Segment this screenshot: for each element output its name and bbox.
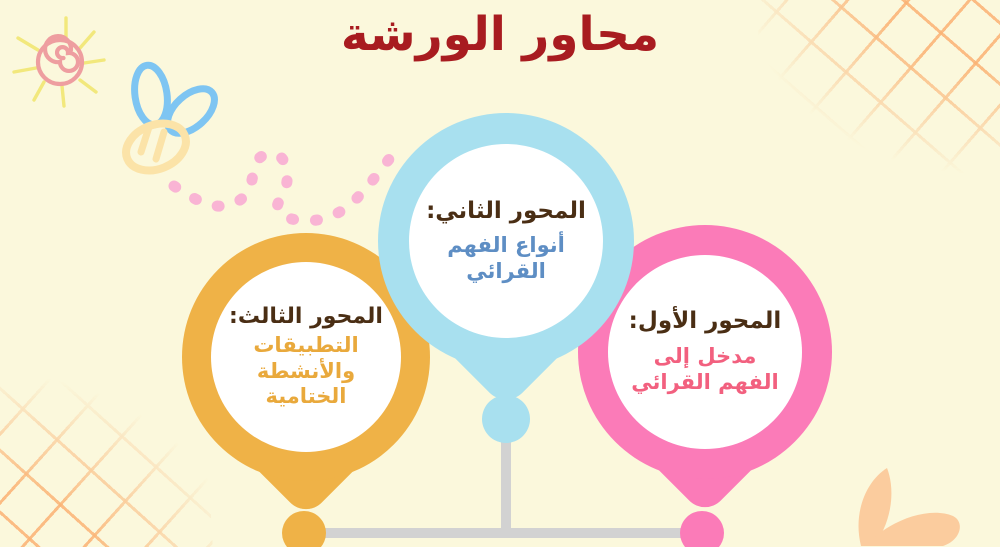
connector-node-left bbox=[282, 511, 326, 547]
pin-order-label: المحور الثالث: bbox=[229, 304, 383, 329]
page-title: محاور الورشة bbox=[0, 6, 1000, 65]
pin-body-line: القرائي bbox=[447, 259, 565, 285]
pin-body-text: مدخل إلى الفهم القرائي bbox=[631, 344, 778, 395]
pin-body-line: والأنشطة bbox=[253, 359, 358, 385]
connector-node-center bbox=[482, 395, 530, 443]
pin-order-label: المحور الثاني: bbox=[426, 198, 586, 224]
connector-node-right bbox=[680, 511, 724, 547]
pin-body-text: التطبيقات والأنشطة الختامية bbox=[253, 333, 358, 410]
pin-body-line: مدخل إلى bbox=[631, 344, 778, 370]
pin-second-axis[interactable]: المحور الثاني: أنواع الفهم القرائي bbox=[378, 113, 634, 369]
pin-body-line: أنواع الفهم bbox=[447, 233, 565, 259]
leaf-icon bbox=[825, 442, 1000, 547]
pin-body-line: الختامية bbox=[253, 384, 358, 410]
pin-body-line: الفهم القرائي bbox=[631, 370, 778, 396]
pin-body-text: أنواع الفهم القرائي bbox=[447, 233, 565, 284]
pin-face: المحور الثاني: أنواع الفهم القرائي bbox=[409, 144, 603, 338]
slide-canvas: محاور الورشة المحور الثالث: التطبيقات وا… bbox=[0, 0, 1000, 547]
pin-face: المحور الثالث: التطبيقات والأنشطة الختام… bbox=[211, 262, 401, 452]
pin-face: المحور الأول: مدخل إلى الفهم القرائي bbox=[608, 255, 802, 449]
pin-order-label: المحور الأول: bbox=[629, 308, 782, 334]
pin-body-line: التطبيقات bbox=[253, 333, 358, 359]
